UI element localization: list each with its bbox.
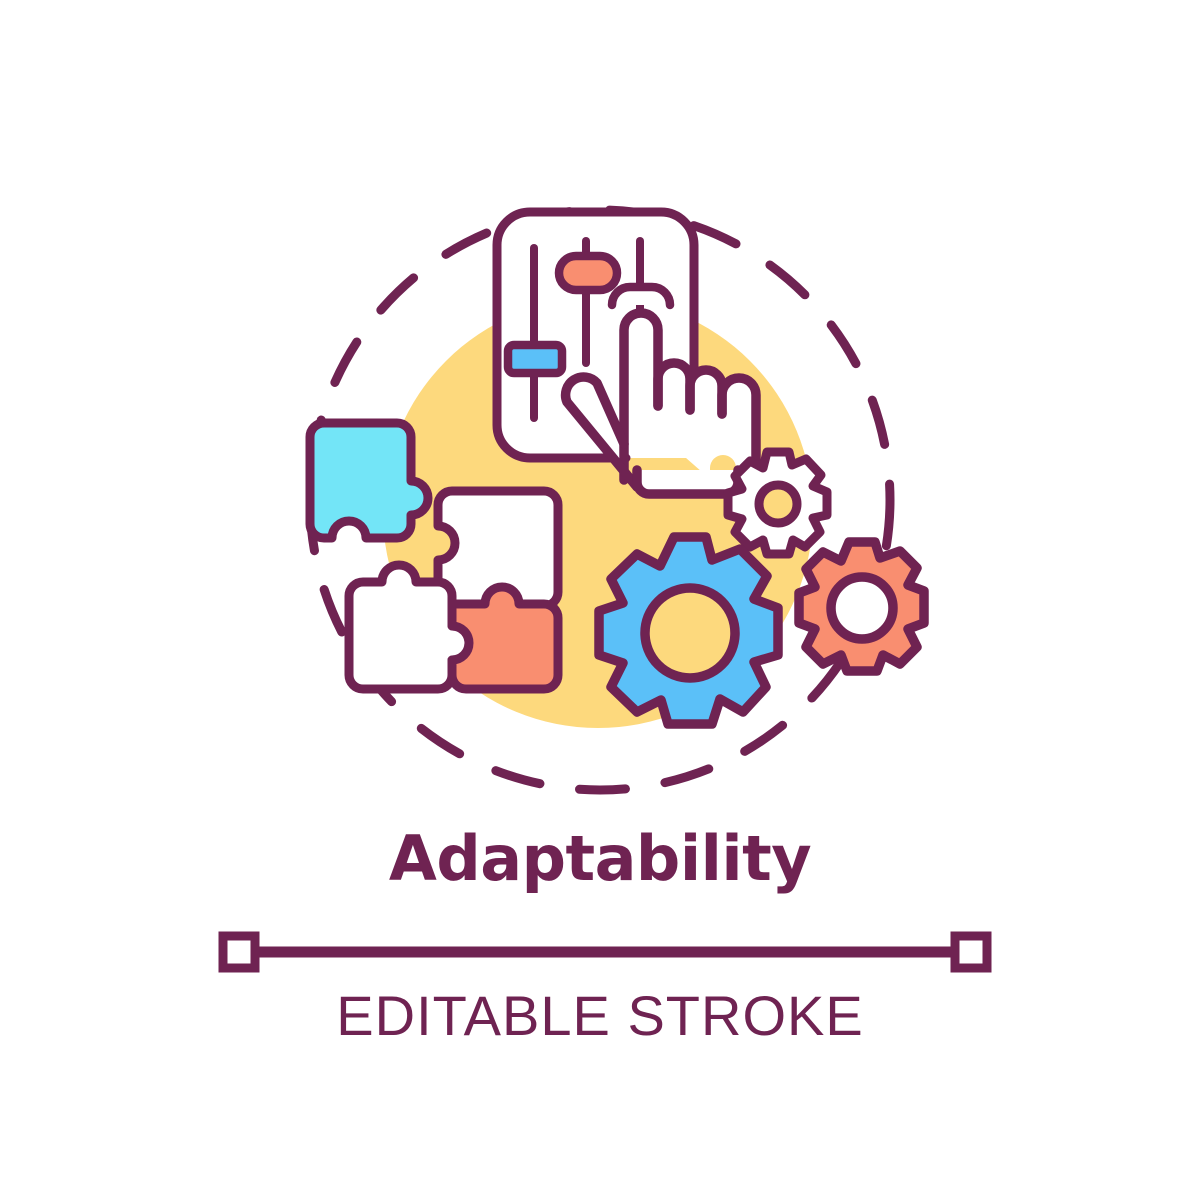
editable-stroke-label: EDITABLE STROKE bbox=[0, 988, 1200, 1044]
salmon-puzzle-piece[interactable] bbox=[452, 587, 558, 689]
divider-end-cap-left bbox=[223, 936, 255, 968]
stroke-width-divider bbox=[223, 936, 987, 968]
page-title: Adaptability bbox=[0, 828, 1200, 890]
white-slider-handle[interactable] bbox=[612, 287, 670, 305]
salmon-medium-gear-icon[interactable] bbox=[799, 542, 924, 671]
white-small-gear-icon[interactable] bbox=[728, 452, 827, 554]
blue-large-gear-icon[interactable] bbox=[599, 537, 778, 724]
illustration-canvas: Adaptability EDITABLE STROKE bbox=[0, 0, 1200, 1200]
salmon-slider-handle[interactable] bbox=[559, 256, 617, 290]
divider-end-cap-right bbox=[955, 936, 987, 968]
blue-slider-handle[interactable] bbox=[508, 345, 562, 373]
cyan-puzzle-piece[interactable] bbox=[310, 423, 428, 538]
